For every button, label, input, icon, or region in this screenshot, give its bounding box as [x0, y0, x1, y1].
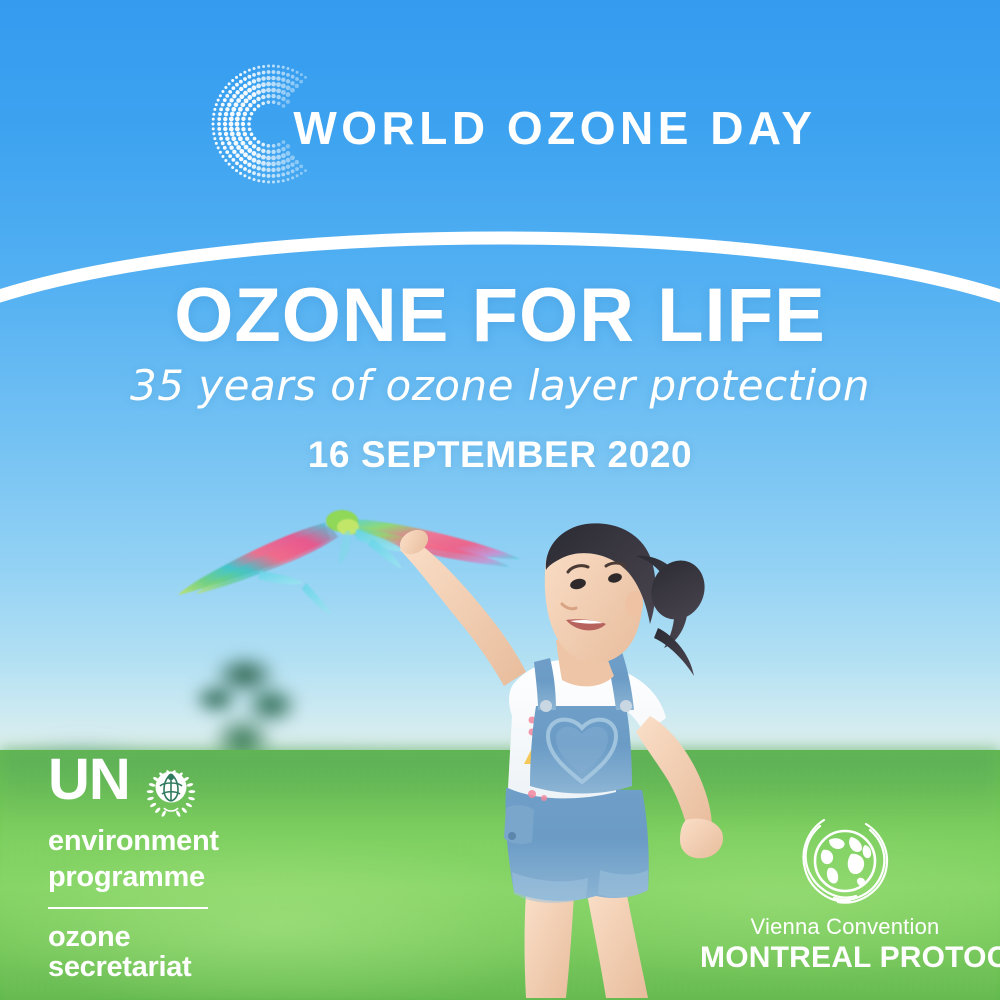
montreal-protocol-logo: Vienna Convention MONTREAL PROTOCOL: [700, 812, 990, 975]
un-laurel-emblem-icon: [140, 758, 202, 820]
un-wordmark: UN: [48, 756, 130, 804]
world-ozone-day-poster: WORLD OZONE DAY OZONE FOR LIFE 35 years …: [0, 0, 1000, 1000]
unep-line2: programme: [48, 862, 278, 892]
page-title: OZONE FOR LIFE: [0, 278, 1000, 354]
montreal-protocol-label: MONTREAL PROTOCOL: [700, 941, 990, 975]
unep-logo-top: UN: [48, 756, 278, 820]
unep-division-line2: secretariat: [48, 952, 278, 982]
world-ozone-day-title: WORLD OZONE DAY: [0, 101, 1000, 155]
unep-divider: [48, 907, 208, 909]
unep-line1: environment: [48, 826, 278, 856]
vienna-convention-label: Vienna Convention: [700, 914, 990, 940]
child-running-with-kite-icon: [400, 520, 740, 1000]
unep-logo: UN: [48, 756, 278, 983]
event-date: 16 SEPTEMBER 2020: [0, 434, 1000, 476]
unep-division-line1: ozone: [48, 922, 278, 952]
page-subtitle: 35 years of ozone layer protection: [0, 363, 1000, 409]
globe-rings-icon: [796, 812, 894, 910]
